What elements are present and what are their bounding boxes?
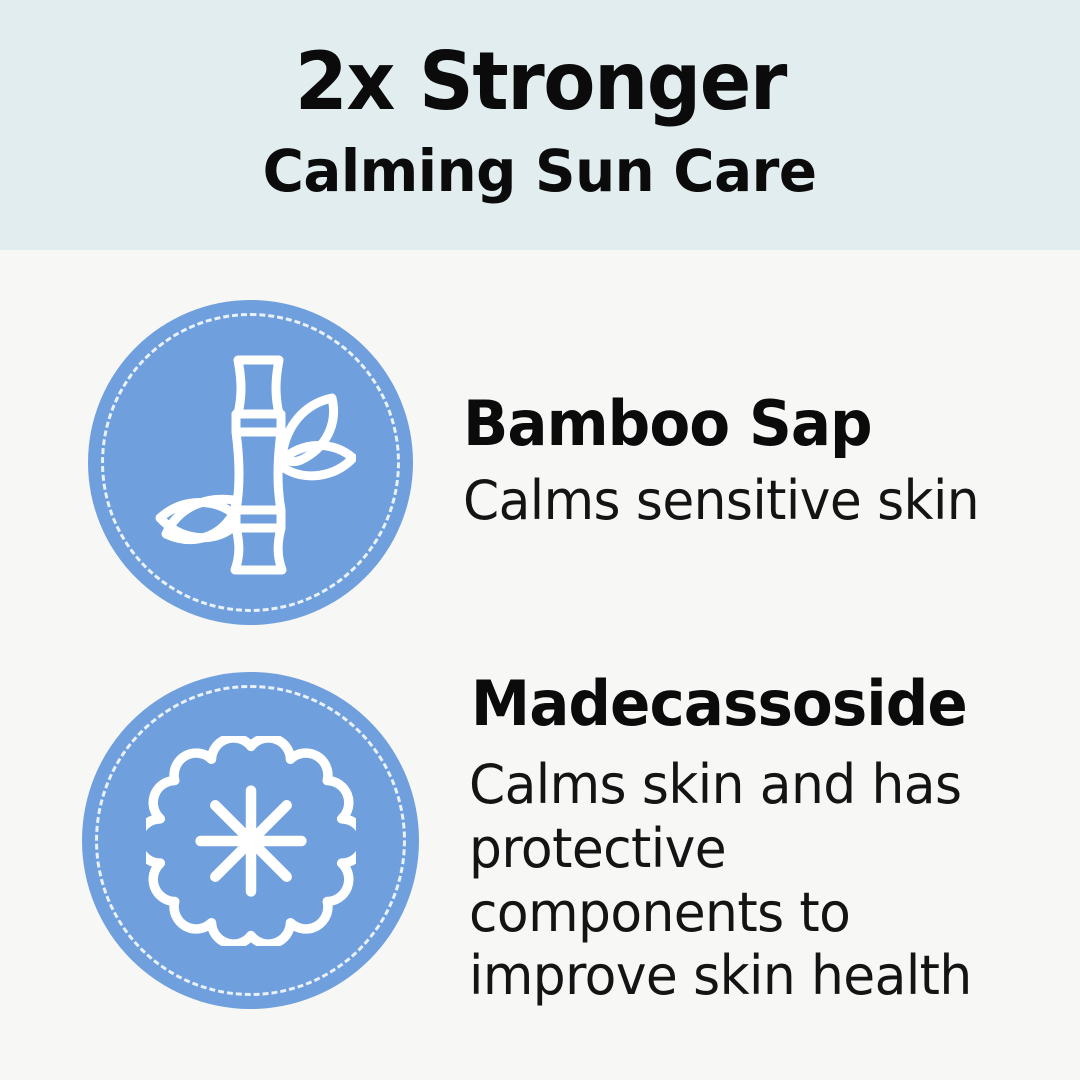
infographic-page: 2x Stronger Calming Sun Care	[0, 0, 1080, 1080]
benefit-text-block: Madecassoside Calms skin and has protect…	[419, 673, 1080, 1008]
benefit-title: Madecassoside	[469, 673, 1036, 735]
flower-asterisk-icon-badge	[82, 672, 419, 1009]
header-band: 2x Stronger Calming Sun Care	[0, 0, 1080, 250]
page-title: 2x Stronger	[294, 42, 785, 122]
benefit-text-block: Bamboo Sap Calms sensitive skin	[413, 393, 1080, 533]
benefit-row: Madecassoside Calms skin and has protect…	[0, 668, 1080, 1013]
benefit-description: Calms skin and has protective components…	[469, 735, 1026, 1008]
page-subtitle: Calming Sun Care	[263, 122, 817, 200]
bamboo-icon	[146, 348, 356, 578]
benefit-description: Calms sensitive skin	[463, 455, 1036, 533]
flower-asterisk-icon	[146, 736, 356, 946]
benefit-title: Bamboo Sap	[463, 393, 1036, 455]
bamboo-icon-badge	[88, 300, 413, 625]
benefit-row: Bamboo Sap Calms sensitive skin	[0, 295, 1080, 630]
